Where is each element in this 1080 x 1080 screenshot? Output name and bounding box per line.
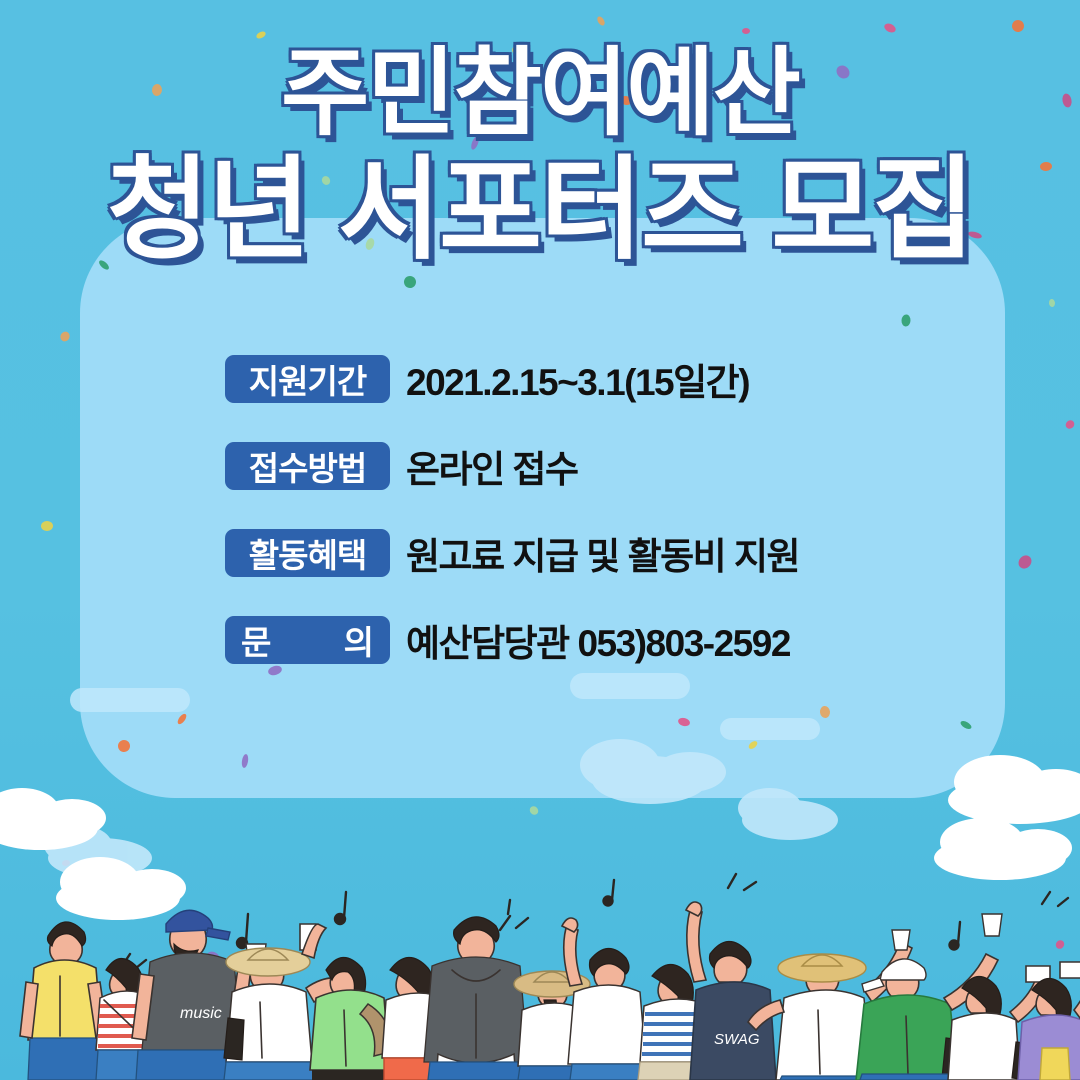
badge-period: 지원기간: [225, 355, 390, 403]
person-7: [424, 917, 534, 1080]
person-1: [20, 922, 108, 1080]
poster-root: 주민참여예산 청년 서포터즈 모집 지원기간 2021.2.15~3.1(15일…: [0, 0, 1080, 1080]
info-row-period: 지원기간 2021.2.15~3.1(15일간): [225, 355, 799, 403]
value-benefit: 원고료 지급 및 활동비 지원: [406, 526, 799, 580]
badge-contact-char-2: 의: [344, 616, 374, 664]
poster-title: 주민참여예산 청년 서포터즈 모집: [0, 46, 1080, 266]
white-cap: [880, 959, 926, 980]
info-row-contact: 문 의 예산담당관 053)803-2592: [225, 616, 799, 664]
info-row-method: 접수방법 온라인 접수: [225, 442, 799, 490]
person-9: [562, 918, 648, 1080]
panel-cloud-1: [570, 673, 690, 699]
person-5: [310, 957, 392, 1080]
shirt-text-music: music: [180, 1005, 222, 1022]
shirt-text-swag: SWAG: [714, 1031, 760, 1048]
badge-contact: 문 의: [225, 616, 390, 664]
info-row-benefit: 활동혜택 원고료 지급 및 활동비 지원: [225, 529, 799, 577]
crowd-illustration: .sk{fill:#f2b49a;stroke:#3a3330;stroke-w…: [0, 870, 1080, 1080]
badge-method: 접수방법: [225, 442, 390, 490]
value-period: 2021.2.15~3.1(15일간): [406, 352, 749, 406]
info-list: 지원기간 2021.2.15~3.1(15일간) 접수방법 온라인 접수 활동혜…: [225, 355, 799, 664]
confetti-dot: [742, 28, 750, 34]
panel-cloud-2: [720, 718, 820, 740]
badge-benefit: 활동혜택: [225, 529, 390, 577]
panel-cloud-3: [70, 688, 190, 712]
title-line-2: 청년 서포터즈 모집: [0, 154, 1080, 266]
badge-contact-char-1: 문: [241, 616, 271, 664]
value-contact: 예산담당관 053)803-2592: [406, 613, 790, 667]
title-line-1: 주민참여예산: [0, 46, 1080, 142]
value-method: 온라인 접수: [406, 439, 577, 493]
person-11: SWAG: [686, 902, 776, 1080]
